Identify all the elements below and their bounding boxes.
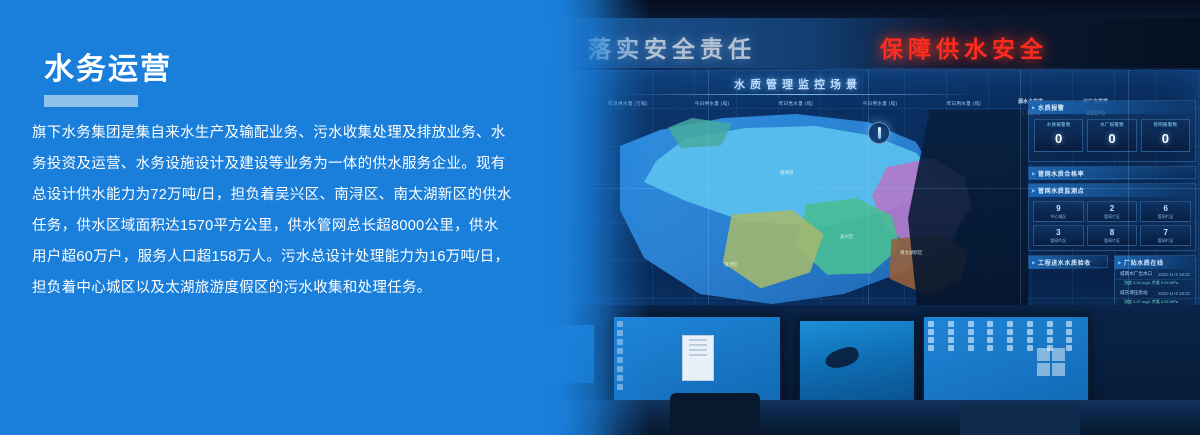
dashboard-right-column: 水质报警 水质报警数 0 水厂报警数 0 管网报警数 0 (1028, 100, 1196, 310)
alarm-card-title: 水质报警数 (1047, 122, 1071, 128)
desktop-icon[interactable] (1066, 345, 1072, 351)
stat-label: 昨日售水量 (吨) (754, 100, 838, 108)
site-card[interactable]: 9 中心城区 (1033, 201, 1084, 222)
desktop-icon[interactable] (987, 337, 993, 343)
alarm-card-title: 水厂报警数 (1100, 122, 1124, 128)
desktop-icon[interactable] (928, 337, 934, 343)
desktop-icon[interactable] (1007, 321, 1013, 327)
quality-rate-panel: 管网水质合格率 (1028, 166, 1196, 179)
site-value: 7 (1163, 228, 1167, 238)
alarm-card-value: 0 (1055, 128, 1062, 150)
document-line (689, 339, 707, 341)
site-log-metrics: 浊度 0.04 mg/L 余氯 0.04 MPa (1115, 280, 1195, 288)
stat-label: 今日供水量 (吨) (670, 100, 754, 108)
hero-banner: 落实安全责任 保障供水安全 水质管理监控场景 昨日供水量 (万吨) 今日供水量 … (0, 0, 1200, 435)
alarm-card[interactable]: 水质报警数 0 (1034, 119, 1083, 152)
site-label: 管网片区 (1158, 238, 1174, 244)
site-log-panel: 厂站水质在线 城南水厂出水口 2022-11-9 18:22 浊度 0.04 m… (1114, 255, 1196, 310)
wall-seam (568, 188, 1200, 189)
desk-laptop (960, 405, 1080, 435)
alarm-card[interactable]: 水厂报警数 0 (1087, 119, 1136, 152)
desktop-icon[interactable] (1047, 329, 1053, 335)
alarm-card[interactable]: 管网报警数 0 (1141, 119, 1190, 152)
monitor-windows-desktop (922, 315, 1090, 410)
desktop-icon[interactable] (1027, 321, 1033, 327)
site-log-row[interactable]: 城南水厂出水口 2022-11-9 18:22 (1115, 269, 1195, 280)
monitor-diver-wallpaper (798, 319, 916, 409)
alarm-card-title: 管网报警数 (1153, 122, 1177, 128)
site-card[interactable]: 7 管网片区 (1140, 225, 1191, 246)
site-log-header: 厂站水质在线 (1115, 256, 1195, 269)
site-label: 管网片区 (1104, 214, 1120, 220)
page-title: 水务运营 (44, 52, 172, 88)
control-room-photo: 落实安全责任 保障供水安全 水质管理监控场景 昨日供水量 (万吨) 今日供水量 … (540, 0, 1200, 435)
desktop-icon[interactable] (1007, 337, 1013, 343)
document-line (689, 354, 707, 356)
desktop-icon[interactable] (928, 321, 934, 327)
desktop-icon[interactable] (948, 329, 954, 335)
diver-figure (823, 344, 861, 372)
quality-rate-header: 管网水质合格率 (1029, 167, 1195, 180)
site-label: 管网片区 (1050, 238, 1066, 244)
document-line (689, 344, 707, 346)
site-value: 9 (1056, 204, 1060, 214)
site-value: 3 (1056, 228, 1060, 238)
desktop-icon[interactable] (1066, 329, 1072, 335)
wall-seam (1128, 70, 1129, 315)
desktop-icon[interactable] (968, 345, 974, 351)
dashboard-title-rule (618, 94, 978, 95)
desktop-icon[interactable] (968, 337, 974, 343)
windows-logo-icon (1037, 348, 1065, 376)
alarm-card-value: 0 (1108, 128, 1115, 150)
intake-panel: 工程进水水质验收 (1028, 255, 1108, 268)
desktop-icon[interactable] (968, 321, 974, 327)
desktop-icon[interactable] (1027, 337, 1033, 343)
alarm-card-value: 0 (1162, 128, 1169, 150)
site-card[interactable]: 3 管网片区 (1033, 225, 1084, 246)
map-dark-region (908, 110, 1028, 310)
desktop-icon[interactable] (1027, 329, 1033, 335)
site-log-name: 城南水厂出水口 (1120, 271, 1152, 277)
title-underline (44, 95, 138, 107)
video-wall: 水质管理监控场景 昨日供水量 (万吨) 今日供水量 (吨) 昨日售水量 (吨) … (568, 70, 1200, 315)
desktop-icon[interactable] (1007, 345, 1013, 351)
site-log-time: 2022-11-9 18:22 (1158, 291, 1190, 296)
site-log-name: 城东增压泵站 (1120, 290, 1148, 296)
site-value: 6 (1163, 204, 1167, 214)
operator-chair (670, 393, 760, 435)
stat-label: 昨日用水量 (吨) (922, 100, 1006, 108)
monitor-sites-grid: 9 中心城区 2 管网片区 6 管网片区 3 管 (1029, 197, 1195, 250)
map-label: 南太湖新区 (900, 250, 923, 256)
site-log-row[interactable]: 城东增压泵站 2022-11-9 18:22 (1115, 288, 1195, 299)
desktop-icon[interactable] (928, 345, 934, 351)
site-value: 8 (1110, 228, 1114, 238)
stat-label: 今日用水量 (吨) (838, 100, 922, 108)
alarm-panel: 水质报警 水质报警数 0 水厂报警数 0 管网报警数 0 (1028, 100, 1196, 162)
site-label: 管网片区 (1158, 214, 1174, 220)
wall-seam (1020, 70, 1021, 315)
desktop-icon[interactable] (1066, 321, 1072, 327)
desktop-icon[interactable] (948, 345, 954, 351)
site-card[interactable]: 2 管网片区 (1087, 201, 1138, 222)
compass-icon (868, 122, 890, 144)
desktop-icon[interactable] (1007, 329, 1013, 335)
document-window[interactable] (682, 335, 714, 381)
marquee-slogan-right: 保障供水安全 (880, 30, 1048, 64)
desktop-icon[interactable] (1027, 345, 1033, 351)
site-value: 2 (1110, 204, 1114, 214)
site-log-time: 2022-11-9 18:22 (1158, 272, 1190, 277)
site-card[interactable]: 8 管网片区 (1087, 225, 1138, 246)
text-panel: 水务运营 旗下水务集团是集自来水生产及输配业务、污水收集处理及排放业务、水 务投… (0, 0, 600, 435)
document-line (689, 349, 707, 351)
alarm-card-row: 水质报警数 0 水厂报警数 0 管网报警数 0 (1029, 114, 1195, 157)
wall-seam (868, 70, 869, 315)
intake-panel-header: 工程进水水质验收 (1029, 256, 1107, 269)
desktop-icon[interactable] (987, 345, 993, 351)
desktop-icon[interactable] (948, 337, 954, 343)
map-label: 吴兴区 (840, 234, 854, 240)
map-label: 南浔区 (724, 262, 738, 268)
site-card[interactable]: 6 管网片区 (1140, 201, 1191, 222)
desktop-icon[interactable] (1066, 337, 1072, 343)
desktop-icon[interactable] (1047, 321, 1053, 327)
desktop-icon[interactable] (968, 329, 974, 335)
desktop-icon[interactable] (948, 321, 954, 327)
monitor-sites-panel: 管网水质监测点 9 中心城区 2 管网片区 6 管网片区 (1028, 183, 1196, 251)
body-paragraph: 旗下水务集团是集自来水生产及输配业务、污水收集处理及排放业务、水 务投资及运营、… (32, 118, 610, 304)
desktop-icon[interactable] (987, 329, 993, 335)
desktop-icon[interactable] (928, 329, 934, 335)
desktop-icon[interactable] (987, 321, 993, 327)
district-map: 德清县 吴兴区 南浔区 南太湖新区 (620, 110, 1020, 310)
desktop-icon[interactable] (1047, 337, 1053, 343)
alarm-panel-header: 水质报警 (1029, 101, 1195, 114)
map-label: 德清县 (780, 170, 794, 176)
monitor-sites-header: 管网水质监测点 (1029, 184, 1195, 197)
wall-seam (708, 70, 709, 315)
site-label: 管网片区 (1104, 238, 1120, 244)
site-label: 中心城区 (1050, 214, 1066, 220)
